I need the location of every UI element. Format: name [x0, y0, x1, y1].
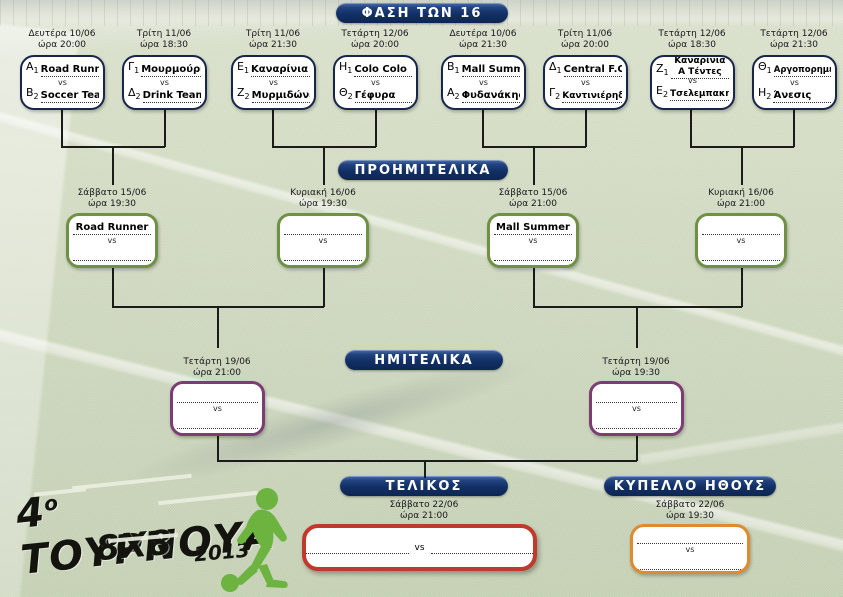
time-text: ώρα 21:00 [491, 199, 575, 210]
away-team-row: Ζ2 Μυρμιδώνες [233, 88, 314, 103]
connector [61, 110, 63, 147]
vs-label: vs [280, 235, 366, 246]
match-box-sf-1[interactable]: vs [170, 381, 265, 436]
match-box-qf-2[interactable]: vs [277, 213, 369, 268]
time-text: ώρα 21:00 [175, 368, 259, 379]
vs-label: vs [592, 403, 681, 414]
banner-final: ΤΕΛΙΚΟΣ [340, 476, 508, 496]
away-seed: Ε2 [656, 85, 670, 101]
away-team-row [698, 246, 784, 261]
time-text: ώρα 19:30 [281, 199, 365, 210]
date-text: Τετάρτη 12/06 [333, 29, 417, 40]
home-team-name [702, 223, 780, 235]
match-box-qf-3[interactable]: Mall Summer vs [487, 213, 579, 268]
time-text: ώρα 21:30 [231, 40, 315, 51]
away-team-name: Soccer Team [41, 90, 99, 103]
away-team-name: Γέφυρα [355, 90, 412, 103]
tournament-logo: 4ο ΤΟΥΡΝΟΥΑ 8Χ8 2013 [8, 474, 288, 592]
home-team-name: Αργοπορημένοι [774, 64, 831, 77]
away-team-name [431, 542, 537, 554]
vs-label: vs [173, 403, 262, 414]
connector [164, 110, 166, 147]
time-text: ώρα 21:30 [752, 40, 836, 51]
soccer-player-icon [208, 486, 294, 592]
away-team-row: Θ2 Γέφυρα [335, 88, 416, 103]
connector [636, 306, 638, 348]
match-date-sf-2: Τετάρτη 19/06 ώρα 19:30 [594, 357, 678, 379]
match-box-qf-1[interactable]: Road Runner vs [66, 213, 158, 268]
date-text: Τρίτη 11/06 [231, 29, 315, 40]
home-team-row [592, 388, 681, 403]
home-team-row [633, 529, 747, 544]
away-team-row [592, 414, 681, 429]
away-team-name: Καντινιέρηδες [562, 90, 622, 103]
time-text: ώρα 18:30 [122, 40, 206, 51]
match-box-r16-7[interactable]: Ζ1 Καναρίνια Α Τέντες vs Ε2 Τσελεμπακης [650, 55, 735, 110]
away-team-name [596, 417, 677, 429]
home-team-row [280, 220, 366, 235]
connector [533, 268, 535, 307]
home-team-name: Road Runner [41, 64, 99, 77]
connector [424, 460, 426, 478]
away-seed: Ζ2 [237, 87, 252, 103]
date-text: Τετάρτη 19/06 [594, 357, 678, 368]
away-team-row [69, 246, 155, 261]
home-team-name [284, 223, 362, 235]
time-text: ώρα 19:30 [648, 511, 732, 522]
match-date-qf-3: Σάββατο 15/06 ώρα 21:00 [491, 188, 575, 210]
match-box-r16-4[interactable]: Η1 Colo Colo vs Θ2 Γέφυρα [333, 55, 418, 110]
home-team-row: Η1 Colo Colo [335, 62, 416, 77]
home-team-row: Θ1 Αργοπορημένοι [754, 62, 835, 77]
match-box-fairplay[interactable]: vs [630, 524, 750, 574]
banner-fairplay-cup: ΚΥΠΕΛΛΟ ΗΘΟΥΣ [604, 476, 776, 496]
away-team-row: Α2 Φυδανάκης [443, 88, 524, 103]
home-seed: Η1 [339, 61, 354, 77]
away-team-name [177, 417, 258, 429]
match-date-qf-1: Σάββατο 15/06 ώρα 19:30 [70, 188, 154, 210]
away-seed: Δ2 [128, 87, 143, 103]
away-team-name: Άνεσις [773, 90, 831, 103]
connector [217, 306, 219, 348]
connector [112, 268, 114, 307]
time-text: ώρα 18:30 [650, 40, 734, 51]
match-date-r16-3: Τρίτη 11/06 ώρα 21:30 [231, 29, 315, 51]
match-date-r16-1: Δευτέρα 10/06 ώρα 20:00 [20, 29, 104, 51]
match-box-r16-1[interactable]: Α1 Road Runner vs Β2 Soccer Team [20, 55, 105, 110]
away-team-row [633, 555, 747, 570]
date-text: Κυριακή 16/06 [281, 188, 365, 199]
away-team-name: Φυδανάκης [462, 90, 520, 103]
home-seed: Δ1 [549, 61, 564, 77]
match-date-sf-1: Τετάρτη 19/06 ώρα 21:00 [175, 357, 259, 379]
connector [741, 146, 743, 185]
connector [690, 110, 692, 147]
away-team-row: Β2 Soccer Team [22, 88, 103, 103]
away-team-row: Δ2 Drink Team [124, 88, 205, 103]
connector [217, 460, 637, 462]
home-team-row: Road Runner [69, 220, 155, 235]
connector [272, 110, 274, 147]
time-text: ώρα 21:00 [382, 511, 466, 522]
away-team-row: Γ2 Καντινιέρηδες [545, 88, 626, 103]
match-date-r16-6: Τρίτη 11/06 ώρα 20:00 [543, 29, 627, 51]
home-seed: Α1 [26, 61, 41, 77]
logo-format-text: 8Χ8 [94, 523, 174, 570]
connector [217, 436, 219, 461]
date-text: Δευτέρα 10/06 [441, 29, 525, 40]
home-team-row: Α1 Road Runner [22, 62, 103, 77]
vs-label: vs [698, 235, 784, 246]
home-team-name: Mall Summer [494, 222, 572, 235]
home-team-row: Β1 Mall Summer [443, 62, 524, 77]
away-team-name: Τσελεμπακης [670, 88, 729, 101]
away-team-row: Η2 Άνεσις [754, 88, 835, 103]
vs-label: vs [490, 235, 576, 246]
home-team-name [596, 391, 677, 403]
match-date-r16-5: Δευτέρα 10/06 ώρα 21:30 [441, 29, 525, 51]
away-seed: Α2 [447, 87, 462, 103]
date-text: Τρίτη 11/06 [122, 29, 206, 40]
home-team-name: Καναρίνια Β [251, 64, 310, 77]
match-date-r16-4: Τετάρτη 12/06 ώρα 20:00 [333, 29, 417, 51]
away-seed: Β2 [26, 87, 41, 103]
match-date-r16-2: Τρίτη 11/06 ώρα 18:30 [122, 29, 206, 51]
banner-quarterfinals: ΠΡΟΗΜΙΤΕΛΙΚΑ [338, 160, 508, 180]
time-text: ώρα 19:30 [594, 368, 678, 379]
match-box-final[interactable]: vs [302, 524, 537, 571]
time-text: ώρα 20:00 [333, 40, 417, 51]
match-date-fairplay: Σάββατο 22/06 ώρα 19:30 [648, 500, 732, 522]
time-text: ώρα 21:30 [441, 40, 525, 51]
home-team-name: Mall Summer [462, 64, 520, 77]
home-team-row: Γ1 Μουρμούρια [124, 62, 205, 77]
home-team-name: Colo Colo [354, 64, 412, 77]
away-seed: Γ2 [549, 87, 562, 103]
connector [375, 110, 377, 147]
connector [741, 268, 743, 307]
away-team-row [280, 246, 366, 261]
time-text: ώρα 20:00 [543, 40, 627, 51]
away-team-row: Ε2 Τσελεμπακης [652, 86, 733, 101]
connector [793, 110, 795, 147]
match-box-sf-2[interactable]: vs [589, 381, 684, 436]
vs-label: vs [415, 543, 425, 553]
connector [323, 268, 325, 307]
away-team-name [494, 249, 572, 261]
date-text: Κυριακή 16/06 [699, 188, 783, 199]
date-text: Τρίτη 11/06 [543, 29, 627, 40]
away-seed: Θ2 [339, 87, 355, 103]
away-team-name: Drink Team [143, 90, 201, 103]
date-text: Δευτέρα 10/06 [20, 29, 104, 40]
date-text: Τετάρτη 12/06 [752, 29, 836, 40]
tournament-bracket: ΦΑΣΗ ΤΩΝ 16 ΠΡΟΗΜΙΤΕΛΙΚΑ ΗΜΙΤΕΛΙΚΑ ΤΕΛΙΚ… [0, 0, 843, 597]
time-text: ώρα 21:00 [699, 199, 783, 210]
home-team-row [173, 388, 262, 403]
home-team-name [177, 391, 258, 403]
match-box-r16-2[interactable]: Γ1 Μουρμούρια vs Δ2 Drink Team [122, 55, 207, 110]
away-team-name: Μυρμιδώνες [252, 90, 310, 103]
away-team-row [173, 414, 262, 429]
match-box-r16-5[interactable]: Β1 Mall Summer vs Α2 Φυδανάκης [441, 55, 526, 110]
date-text: Τετάρτη 19/06 [175, 357, 259, 368]
home-team-name: Road Runner [73, 222, 151, 235]
home-seed: Θ1 [758, 61, 774, 77]
connector [533, 146, 535, 185]
match-date-qf-4: Κυριακή 16/06 ώρα 21:00 [699, 188, 783, 210]
match-date-r16-8: Τετάρτη 12/06 ώρα 21:30 [752, 29, 836, 51]
time-text: ώρα 20:00 [20, 40, 104, 51]
home-seed: Ε1 [237, 61, 251, 77]
date-text: Σάββατο 22/06 [382, 500, 466, 511]
home-seed: Γ1 [128, 61, 141, 77]
banner-round-of-16: ΦΑΣΗ ΤΩΝ 16 [336, 3, 508, 23]
connector [482, 110, 484, 147]
connector [585, 110, 587, 147]
home-seed: Β1 [447, 61, 462, 77]
final-teams: vs [306, 542, 533, 554]
home-team-row [698, 220, 784, 235]
match-date-qf-2: Κυριακή 16/06 ώρα 19:30 [281, 188, 365, 210]
connector [636, 436, 638, 461]
home-team-row: Ε1 Καναρίνια Β [233, 62, 314, 77]
date-text: Τετάρτη 12/06 [650, 29, 734, 40]
away-team-name [637, 558, 743, 570]
home-team-name: Central F.C [564, 64, 622, 77]
away-team-name [702, 249, 780, 261]
match-date-r16-7: Τετάρτη 12/06 ώρα 18:30 [650, 29, 734, 51]
match-box-r16-8[interactable]: Θ1 Αργοπορημένοι vs Η2 Άνεσις [752, 55, 837, 110]
away-seed: Η2 [758, 87, 773, 103]
banner-semifinals: ΗΜΙΤΕΛΙΚΑ [345, 350, 503, 370]
vs-label: vs [69, 235, 155, 246]
home-team-name: Μουρμούρια [141, 64, 201, 77]
home-team-name [637, 532, 743, 544]
match-box-r16-3[interactable]: Ε1 Καναρίνια Β vs Ζ2 Μυρμιδώνες [231, 55, 316, 110]
date-text: Σάββατο 22/06 [648, 500, 732, 511]
home-team-name [302, 542, 409, 554]
away-team-name [284, 249, 362, 261]
time-text: ώρα 19:30 [70, 199, 154, 210]
connector [323, 146, 325, 185]
match-box-qf-4[interactable]: vs [695, 213, 787, 268]
home-team-row: Mall Summer [490, 220, 576, 235]
match-box-r16-6[interactable]: Δ1 Central F.C vs Γ2 Καντινιέρηδες [543, 55, 628, 110]
away-team-row [490, 246, 576, 261]
date-text: Σάββατο 15/06 [491, 188, 575, 199]
away-team-name [73, 249, 151, 261]
connector [112, 146, 114, 185]
home-team-row: Δ1 Central F.C [545, 62, 626, 77]
vs-label: vs [633, 544, 747, 555]
date-text: Σάββατο 15/06 [70, 188, 154, 199]
match-date-final: Σάββατο 22/06 ώρα 21:00 [382, 500, 466, 522]
